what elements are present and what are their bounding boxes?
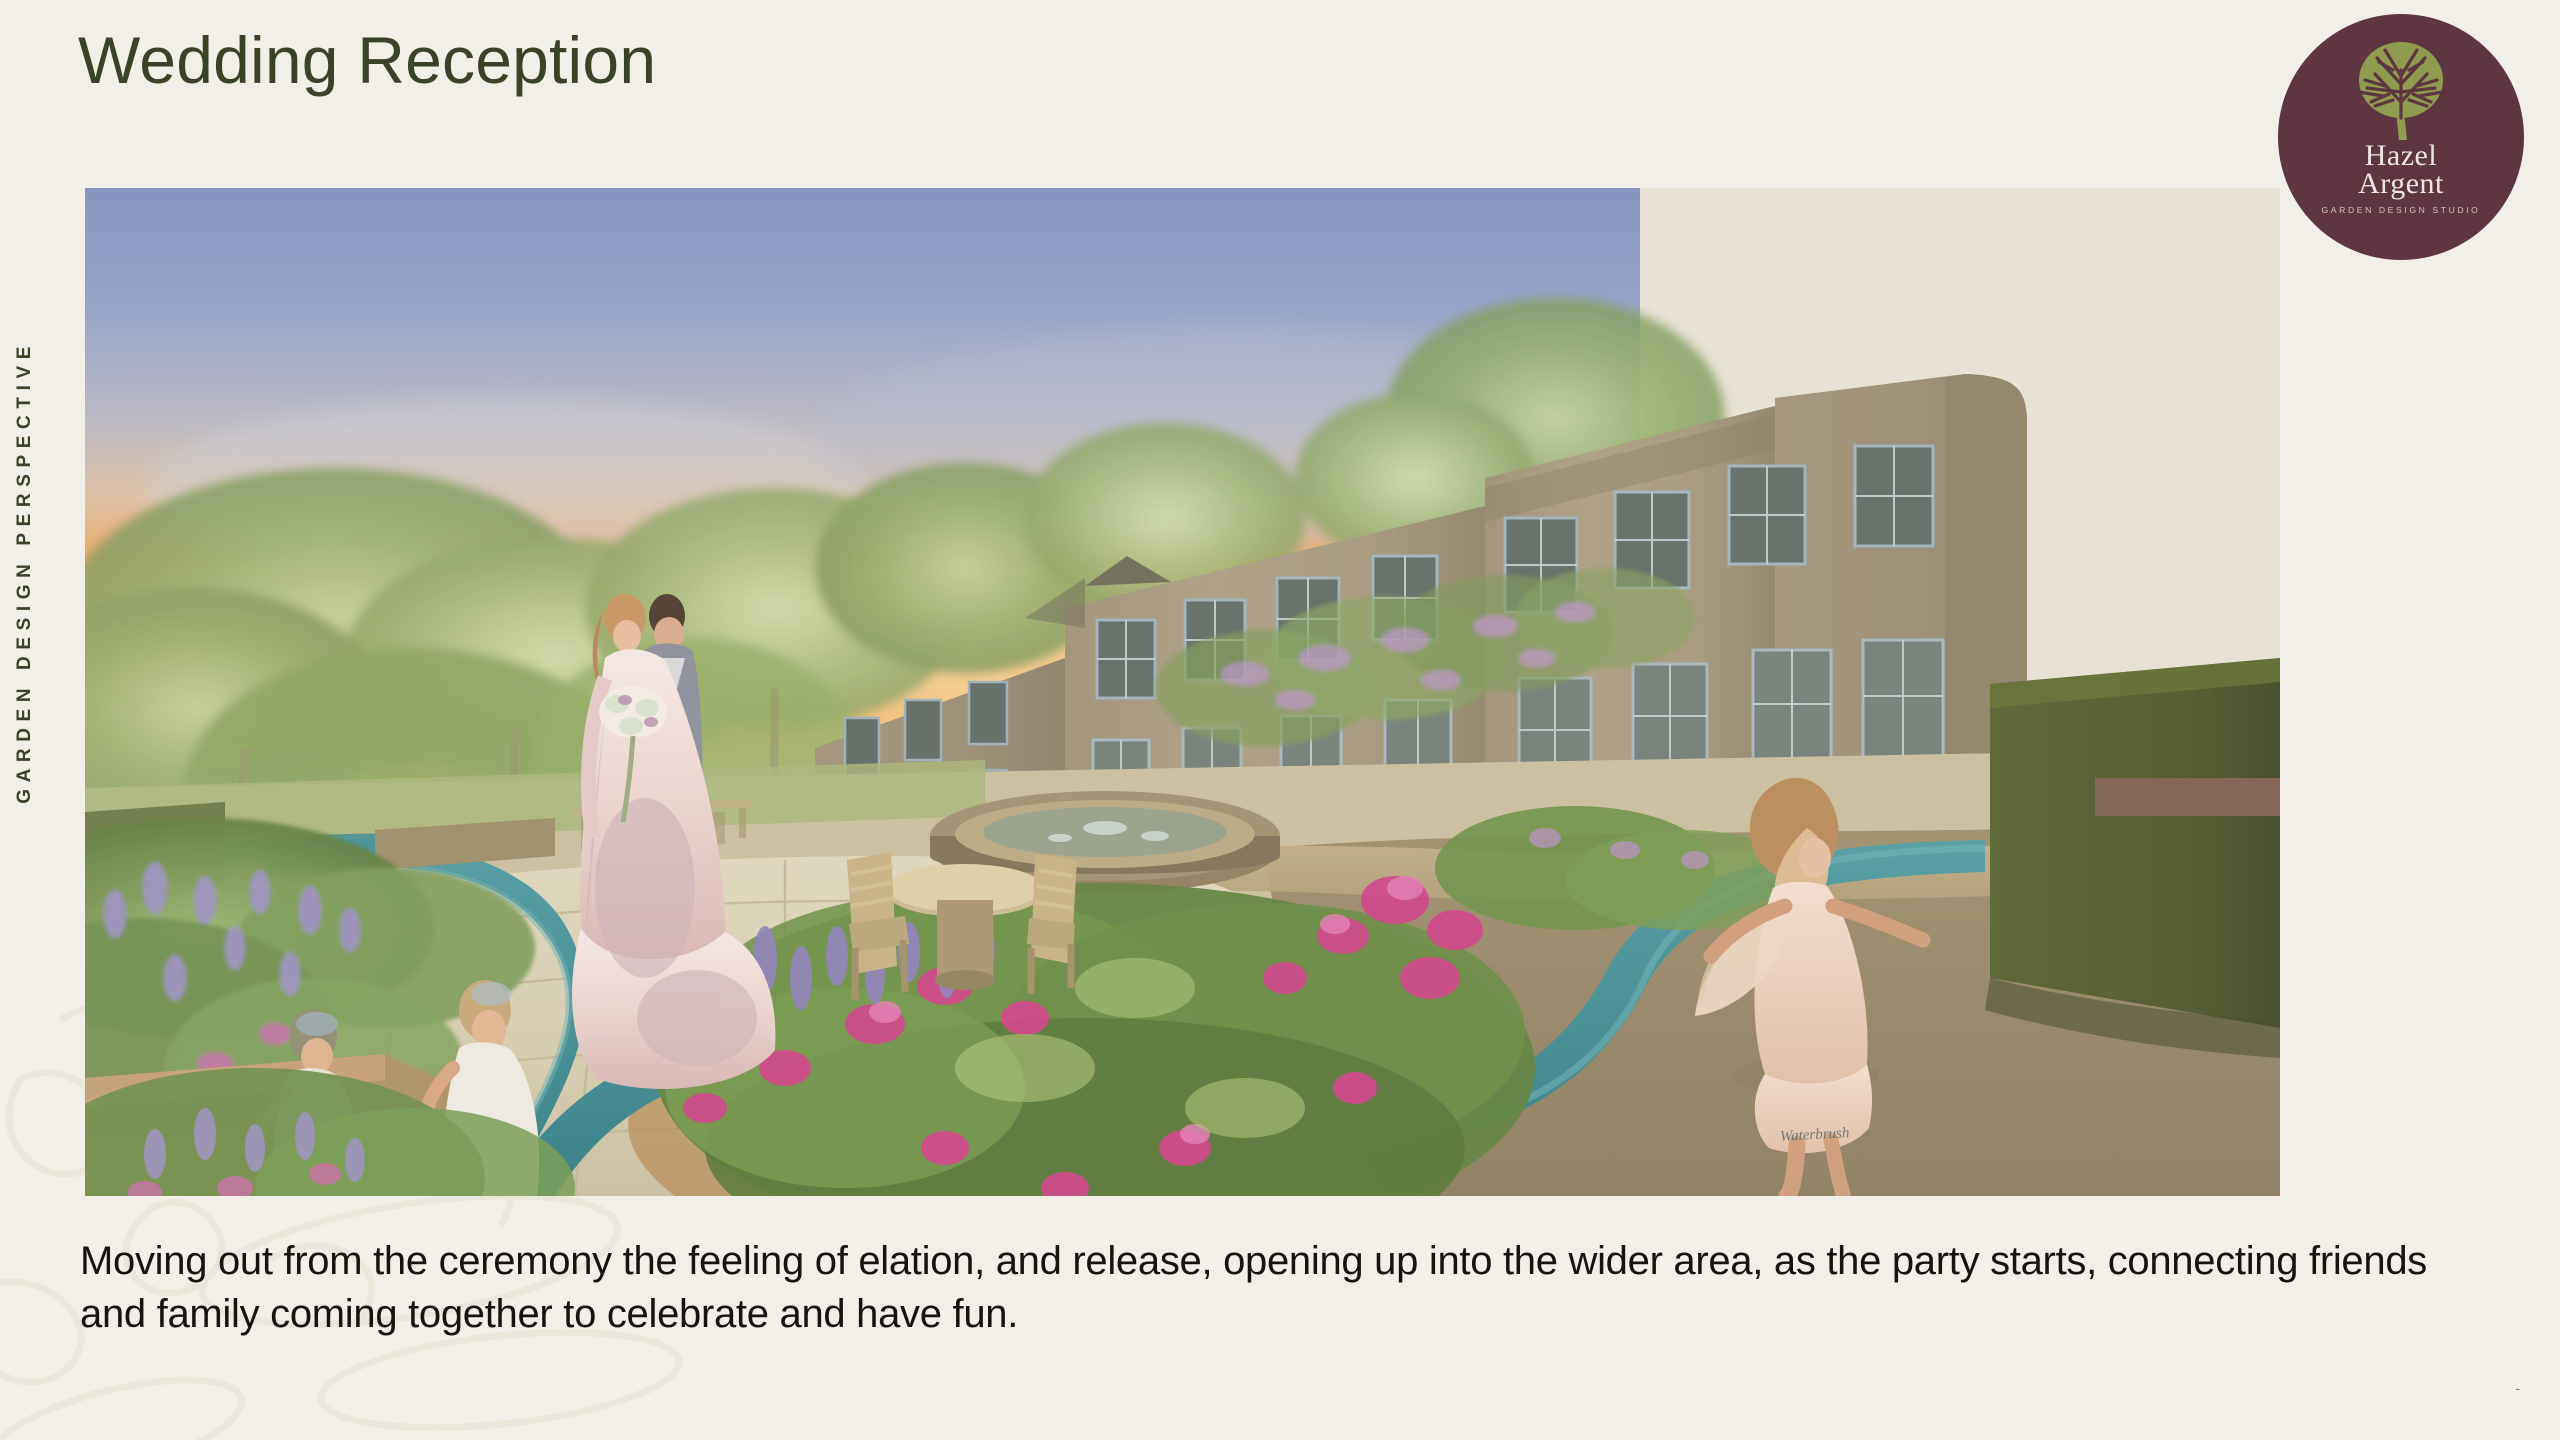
logo-hazel-argent: Hazel Argent GARDEN DESIGN STUDIO bbox=[2278, 14, 2524, 260]
section-label-vertical: GARDEN DESIGN PERSPECTIVE bbox=[14, 340, 36, 804]
garden-perspective-render bbox=[85, 188, 2280, 1196]
artist-watermark: Waterbrush bbox=[1780, 1125, 1850, 1146]
tree-canopy-icon bbox=[2345, 40, 2457, 140]
page-mark: - bbox=[2516, 1381, 2520, 1396]
slide-caption: Moving out from the ceremony the feeling… bbox=[80, 1235, 2480, 1341]
logo-tagline: GARDEN DESIGN STUDIO bbox=[2322, 205, 2481, 215]
logo-name-line2: Argent bbox=[2358, 170, 2444, 198]
logo-wordmark: Hazel Argent bbox=[2358, 142, 2444, 198]
render-illustration bbox=[85, 188, 2280, 1196]
page-title: Wedding Reception bbox=[78, 22, 656, 98]
logo-name-line1: Hazel bbox=[2358, 142, 2444, 170]
